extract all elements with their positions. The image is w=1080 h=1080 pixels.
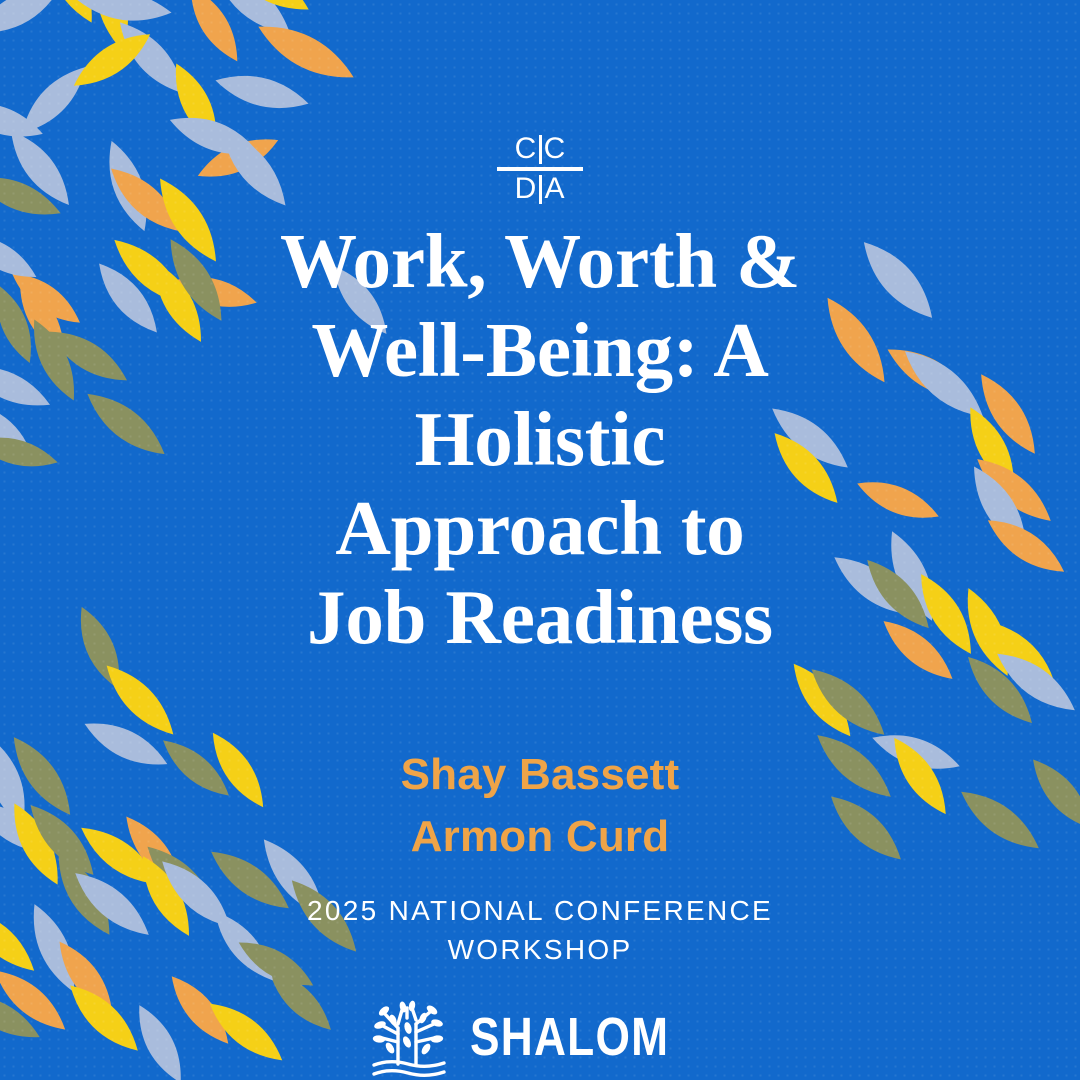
title-line: Well-Being: A xyxy=(311,307,768,393)
ccda-letter-d: D xyxy=(513,174,539,204)
ccda-letter-a: A xyxy=(542,174,568,204)
title-line: Work, Worth & xyxy=(280,218,800,304)
shalom-logo-lockup: SHALOM xyxy=(368,994,713,1080)
shalom-wordmark: SHALOM xyxy=(470,1010,669,1064)
conference-session-poster: C C D A Work, Worth & Well-Being: A Holi… xyxy=(0,0,1080,1080)
ccda-logo: C C D A xyxy=(494,132,586,199)
tree-icon xyxy=(368,994,450,1080)
ccda-horizontal-rule xyxy=(497,167,583,171)
event-label: 2025 National Conference Workshop xyxy=(260,891,820,971)
speaker-name: Shay Bassett xyxy=(401,744,680,806)
speaker-list: Shay Bassett Armon Curd xyxy=(401,744,680,869)
session-title: Work, Worth & Well-Being: A Holistic App… xyxy=(220,217,860,662)
event-label-line1: 2025 National xyxy=(307,895,544,926)
ccda-logo-row-top: C C xyxy=(494,134,586,164)
poster-content: C C D A Work, Worth & Well-Being: A Holi… xyxy=(0,0,1080,1080)
ccda-letter-c2: C xyxy=(542,134,568,164)
title-line: Holistic xyxy=(415,396,666,482)
speaker-name: Armon Curd xyxy=(401,806,680,868)
title-line: Approach to xyxy=(335,485,744,571)
title-line: Job Readiness xyxy=(307,574,773,660)
ccda-logo-row-bottom: D A xyxy=(494,174,586,204)
ccda-letter-c1: C xyxy=(513,134,539,164)
